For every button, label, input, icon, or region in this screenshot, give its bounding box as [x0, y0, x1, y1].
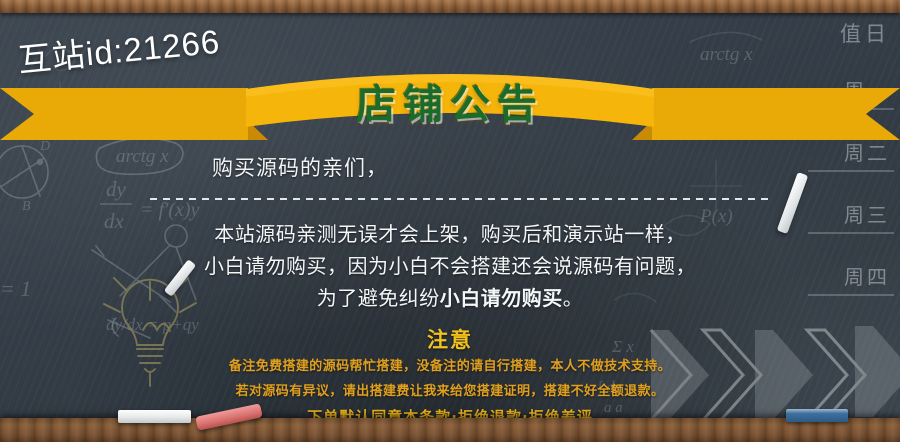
greeting-text: 购买源码的亲们，	[212, 152, 388, 182]
blackboard-eraser	[786, 409, 848, 422]
body-line-3-suffix: 。	[563, 286, 584, 310]
body-line-3: 为了避免纠纷小白请勿购买。	[70, 282, 830, 314]
notice-line-1: 备注免费搭建的源码帮忙搭建，没备注的请自行搭建，本人不做技术支持。	[0, 354, 900, 379]
body-line-3-emphasis: 小白请勿购买	[440, 286, 563, 310]
body-line-3-prefix: 为了避免纠纷	[317, 286, 440, 310]
wooden-frame-top	[0, 0, 900, 13]
notice-lines: 备注免费搭建的源码帮忙搭建，没备注的请自行搭建，本人不做技术支持。 若对源码有异…	[0, 354, 900, 404]
body-line-1: 本站源码亲测无误才会上架，购买后和演示站一样，	[70, 218, 830, 250]
announcement-banner-image: dy dx = f'(x)y arctg x = 1 B D arctg x P…	[0, 0, 900, 442]
chalk-stick-white-ledge	[118, 410, 191, 423]
notice-line-2: 若对源码有异议，请出搭建费让我来给您搭建证明，搭建不好全额退款。	[0, 379, 900, 404]
dashed-divider	[150, 198, 772, 200]
notice-title: 注意	[0, 324, 900, 354]
